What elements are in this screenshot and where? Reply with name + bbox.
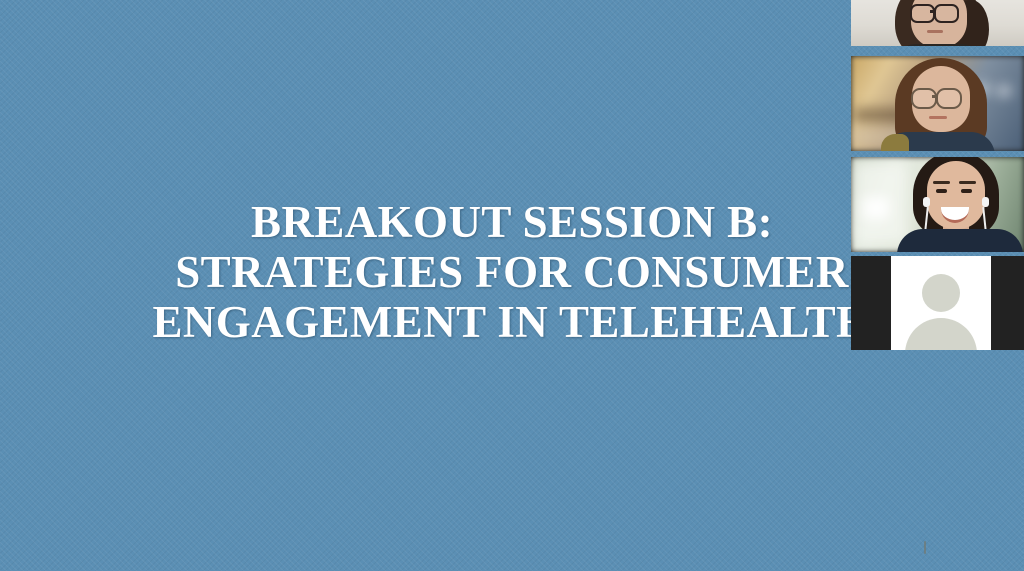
background-window-3 [863, 197, 889, 219]
glasses-left-lens-2 [911, 88, 937, 109]
glasses-right-lens-1 [934, 4, 959, 23]
video-tile-4[interactable] [851, 256, 1024, 350]
participant-brow-right-3 [959, 181, 976, 184]
video-tile-1[interactable] [851, 0, 1024, 46]
earbud-right-3 [982, 197, 989, 207]
participant-video-rail[interactable] [851, 0, 1024, 571]
participant-torso-3 [897, 229, 1023, 252]
webcam-feed-1 [851, 0, 1024, 46]
background-wall-art-right-2 [997, 86, 1011, 96]
participant-eye-right-3 [961, 189, 972, 193]
screen-share-view: BREAKOUT SESSION B: STRATEGIES FOR CONSU… [0, 0, 1024, 571]
person-avatar-icon [922, 274, 960, 312]
glasses-left-lens-1 [910, 4, 935, 23]
glasses-bridge-2 [932, 95, 938, 98]
participant-eye-left-3 [936, 189, 947, 193]
participant-mouth-2 [929, 116, 947, 119]
participant-mouth-1 [927, 30, 943, 33]
glasses-right-lens-2 [936, 88, 962, 109]
participant-brow-left-3 [933, 181, 950, 184]
video-tile-3[interactable] [851, 157, 1024, 252]
webcam-feed-3 [851, 157, 1024, 252]
avatar-card [891, 256, 991, 350]
video-tile-2[interactable] [851, 56, 1024, 151]
glasses-bridge-1 [930, 10, 936, 13]
webcam-feed-2 [851, 56, 1024, 151]
person-avatar-shoulders [905, 318, 977, 350]
earbud-left-3 [923, 197, 930, 207]
participant-collar-2 [881, 134, 909, 151]
